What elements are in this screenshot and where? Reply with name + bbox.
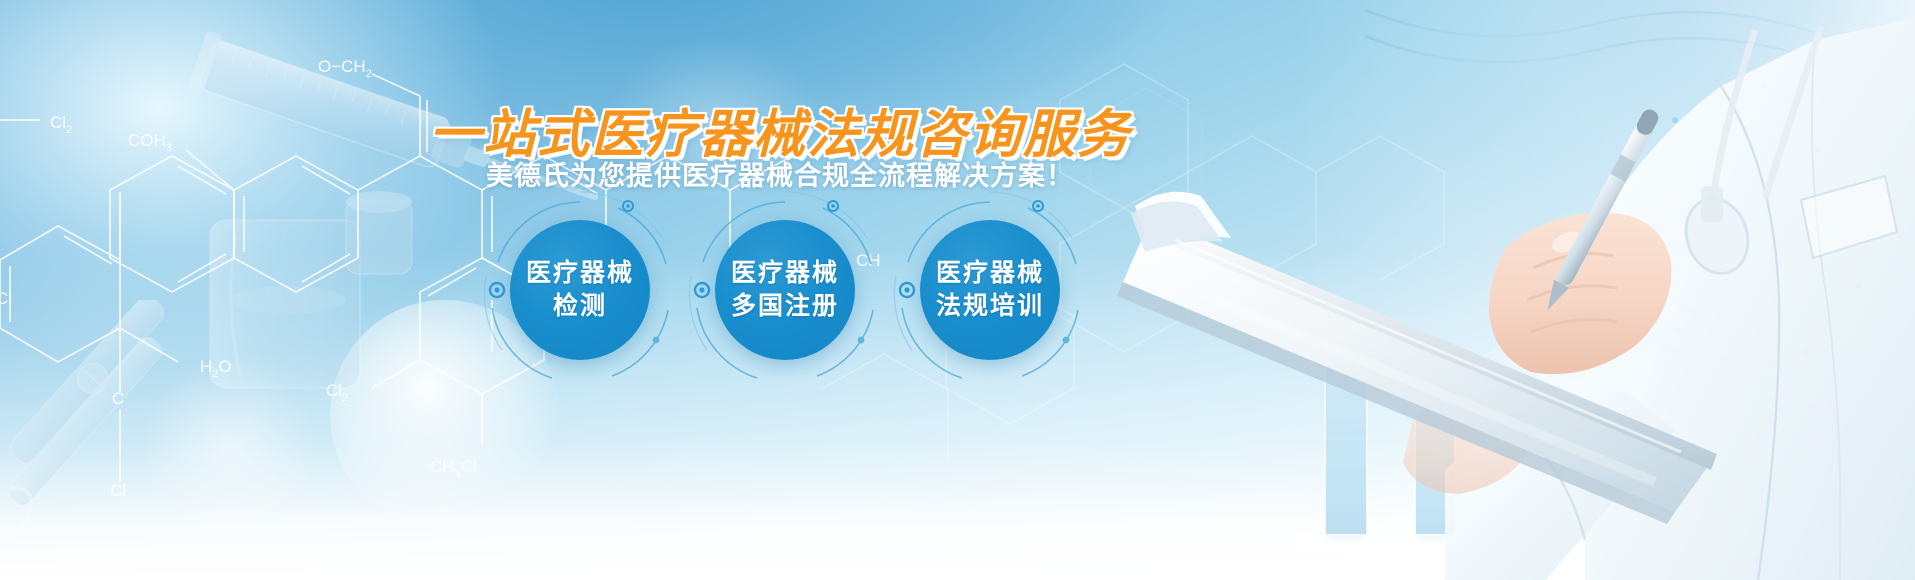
bubble-label-line1: 医疗器械 [731, 257, 839, 290]
bubble-label-line1: 医疗器械 [526, 257, 634, 290]
service-bubble-group: 医疗器械 检测 [0, 0, 1915, 580]
banner-content: 一站式医疗器械法规咨询服务 美德氏为您提供医疗器械合规全流程解决方案！ [0, 0, 1915, 580]
bubble-label-line2: 法规培训 [936, 290, 1044, 323]
service-bubble-detection[interactable]: 医疗器械 检测 [480, 190, 680, 390]
bubble-label-line2: 多国注册 [731, 290, 839, 323]
service-bubble-body[interactable]: 医疗器械 法规培训 [920, 220, 1060, 360]
service-bubble-body[interactable]: 医疗器械 多国注册 [715, 220, 855, 360]
bubble-label-line2: 检测 [553, 290, 607, 323]
promo-banner: Cl2 COH3 O−CH2 H2O Cl2 CH3Cl C Cl Cl CH [0, 0, 1915, 580]
bubble-label-line1: 医疗器械 [936, 257, 1044, 290]
service-bubble-registration[interactable]: 医疗器械 多国注册 [685, 190, 885, 390]
service-bubble-body[interactable]: 医疗器械 检测 [510, 220, 650, 360]
service-bubble-training[interactable]: 医疗器械 法规培训 [890, 190, 1090, 390]
